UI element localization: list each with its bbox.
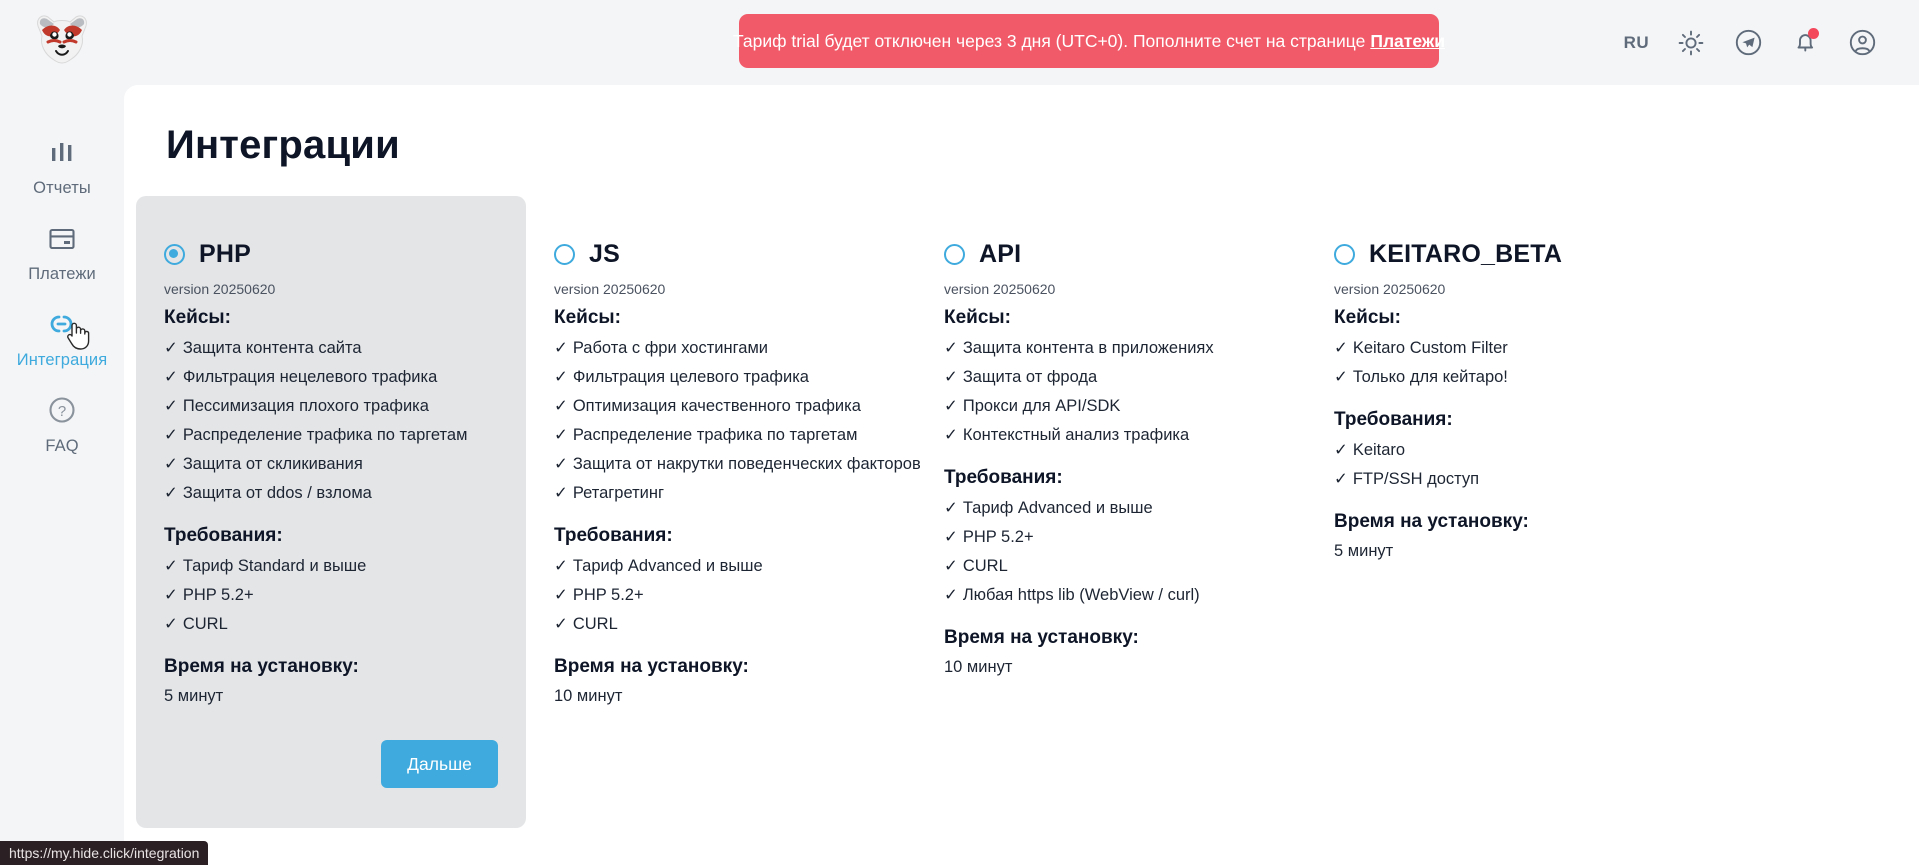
- case-item: ✓Контекстный анализ трафика: [944, 425, 1278, 445]
- requirement-item: ✓CURL: [944, 556, 1278, 576]
- user-avatar-icon[interactable]: [1847, 28, 1877, 58]
- install-time-heading: Время на установку:: [164, 656, 498, 678]
- case-item: ✓Защита контента сайта: [164, 338, 498, 358]
- install-time-value: 5 минут: [164, 687, 498, 706]
- integration-card-js[interactable]: JS version 20250620 Кейсы: ✓Работа с фри…: [526, 196, 916, 828]
- card-header: JS: [554, 240, 888, 269]
- radio-button-keitaro-beta[interactable]: [1334, 244, 1355, 265]
- case-item: ✓Защита от накрутки поведенческих фактор…: [554, 454, 888, 474]
- requirement-item: ✓Любая https lib (WebView / curl): [944, 585, 1278, 605]
- install-time-heading: Время на установку:: [944, 627, 1278, 649]
- app-root: Отчеты Платежи: [0, 0, 1919, 865]
- header-actions: RU: [1624, 28, 1877, 58]
- banner-payments-link[interactable]: Платежи: [1370, 31, 1445, 52]
- case-item: ✓Фильтрация целевого трафика: [554, 367, 888, 387]
- integration-cards: PHP version 20250620 Кейсы: ✓Защита конт…: [124, 196, 1919, 828]
- question-circle-icon: ?: [45, 394, 79, 428]
- trial-expiry-banner[interactable]: Тариф trial будет отключен через 3 дня (…: [739, 14, 1439, 68]
- card-version: version 20250620: [554, 281, 888, 297]
- sidebar-nav: Отчеты Платежи: [0, 122, 124, 466]
- case-item: ✓Работа с фри хостингами: [554, 338, 888, 358]
- card-header: PHP: [164, 240, 498, 269]
- case-item: ✓Только для кейтаро!: [1334, 367, 1668, 387]
- requirement-item: ✓CURL: [164, 614, 498, 634]
- install-time-heading: Время на установку:: [554, 656, 888, 678]
- status-bar-url: https://my.hide.click/integration: [0, 841, 208, 865]
- top-bar: Тариф trial будет отключен через 3 дня (…: [124, 0, 1919, 85]
- case-item: ✓Защита от скликивания: [164, 454, 498, 474]
- sun-icon[interactable]: [1676, 28, 1706, 58]
- sidebar-item-label: Платежи: [28, 265, 96, 284]
- card-header: API: [944, 240, 1278, 269]
- case-item: ✓Распределение трафика по таргетам: [164, 425, 498, 445]
- sidebar-item-otchety[interactable]: Отчеты: [0, 122, 124, 208]
- content-area: Интеграции PHP version 20250620 Кейсы: ✓…: [124, 85, 1919, 865]
- bar-chart-icon: [45, 136, 79, 170]
- case-item: ✓Пессимизация плохого трафика: [164, 396, 498, 416]
- case-item: ✓Защита контента в приложениях: [944, 338, 1278, 358]
- sidebar: Отчеты Платежи: [0, 0, 124, 865]
- sidebar-item-platezhi[interactable]: Платежи: [0, 208, 124, 294]
- case-item: ✓Распределение трафика по таргетам: [554, 425, 888, 445]
- language-switcher[interactable]: RU: [1624, 33, 1649, 53]
- case-item: ✓Прокси для API/SDK: [944, 396, 1278, 416]
- notification-dot: [1808, 28, 1819, 39]
- cases-heading: Кейсы:: [164, 307, 498, 329]
- svg-text:?: ?: [58, 403, 66, 420]
- install-time-value: 5 минут: [1334, 542, 1668, 561]
- sidebar-item-label: Отчеты: [33, 179, 91, 198]
- requirement-item: ✓PHP 5.2+: [164, 585, 498, 605]
- case-item: ✓Защита от ddos / взлома: [164, 483, 498, 503]
- requirements-heading: Требования:: [554, 525, 888, 547]
- integration-card-php[interactable]: PHP version 20250620 Кейсы: ✓Защита конт…: [136, 196, 526, 828]
- cases-heading: Кейсы:: [554, 307, 888, 329]
- requirement-item: ✓Тариф Standard и выше: [164, 556, 498, 576]
- install-time-value: 10 минут: [944, 658, 1278, 677]
- case-item: ✓Keitaro Custom Filter: [1334, 338, 1668, 358]
- card-version: version 20250620: [944, 281, 1278, 297]
- card-title: KEITARO_BETA: [1369, 240, 1562, 269]
- case-item: ✓Защита от фрода: [944, 367, 1278, 387]
- case-item: ✓Оптимизация качественного трафика: [554, 396, 888, 416]
- sidebar-item-label: FAQ: [45, 437, 78, 456]
- sidebar-item-faq[interactable]: ? FAQ: [0, 380, 124, 466]
- case-item: ✓Ретагретинг: [554, 483, 888, 503]
- telegram-icon[interactable]: [1733, 28, 1763, 58]
- page-title: Интеграции: [166, 123, 1919, 168]
- case-item: ✓Фильтрация нецелевого трафика: [164, 367, 498, 387]
- radio-button-api[interactable]: [944, 244, 965, 265]
- raccoon-logo-icon[interactable]: [30, 10, 94, 72]
- requirement-item: ✓CURL: [554, 614, 888, 634]
- card-version: version 20250620: [1334, 281, 1668, 297]
- cases-heading: Кейсы:: [1334, 307, 1668, 329]
- requirements-heading: Требования:: [164, 525, 498, 547]
- radio-button-php[interactable]: [164, 244, 185, 265]
- link-chain-icon: [44, 308, 80, 342]
- credit-card-icon: [45, 222, 79, 256]
- sidebar-item-label: Интеграция: [17, 351, 108, 370]
- next-button[interactable]: Дальше: [381, 740, 498, 788]
- cases-heading: Кейсы:: [944, 307, 1278, 329]
- requirements-heading: Требования:: [1334, 409, 1668, 431]
- card-version: version 20250620: [164, 281, 498, 297]
- requirement-item: ✓PHP 5.2+: [554, 585, 888, 605]
- integration-card-keitaro-beta[interactable]: KEITARO_BETA version 20250620 Кейсы: ✓Ke…: [1306, 196, 1696, 828]
- install-time-heading: Время на установку:: [1334, 511, 1668, 533]
- card-header: KEITARO_BETA: [1334, 240, 1668, 269]
- requirement-item: ✓Keitaro: [1334, 440, 1668, 460]
- requirement-item: ✓FTP/SSH доступ: [1334, 469, 1668, 489]
- requirement-item: ✓Тариф Advanced и выше: [554, 556, 888, 576]
- card-title: JS: [589, 240, 620, 269]
- banner-text: Тариф trial будет отключен через 3 дня (…: [733, 31, 1365, 52]
- bell-icon[interactable]: [1790, 28, 1820, 58]
- mouse-cursor-hand-icon: [64, 320, 90, 350]
- integration-card-api[interactable]: API version 20250620 Кейсы: ✓Защита конт…: [916, 196, 1306, 828]
- card-title: PHP: [199, 240, 251, 269]
- card-title: API: [979, 240, 1021, 269]
- requirement-item: ✓PHP 5.2+: [944, 527, 1278, 547]
- sidebar-item-integratsiya[interactable]: Интеграция: [0, 294, 124, 380]
- radio-button-js[interactable]: [554, 244, 575, 265]
- install-time-value: 10 минут: [554, 687, 888, 706]
- requirement-item: ✓Тариф Advanced и выше: [944, 498, 1278, 518]
- requirements-heading: Требования:: [944, 467, 1278, 489]
